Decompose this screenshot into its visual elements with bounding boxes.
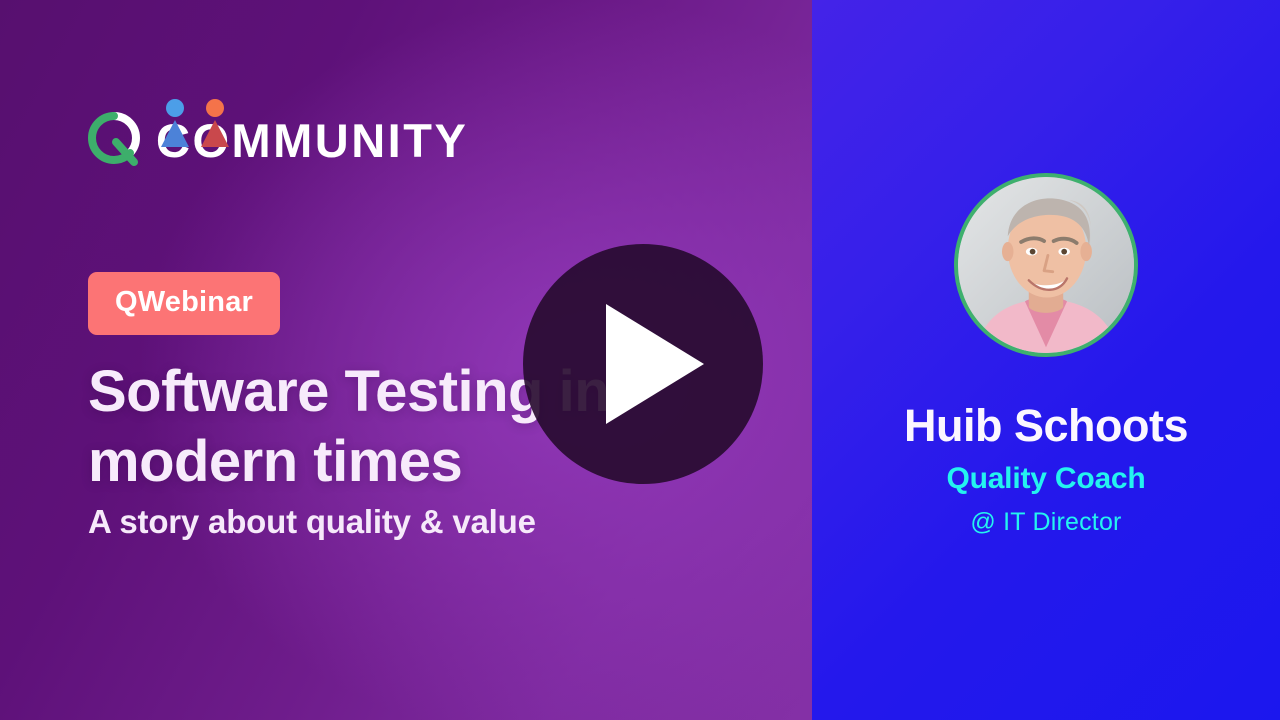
speaker-role: Quality Coach (812, 462, 1280, 496)
brand-logo[interactable]: COMMUNITY (88, 112, 468, 168)
speaker-organization: @ IT Director (812, 508, 1280, 537)
play-button[interactable] (523, 244, 763, 484)
speaker-name: Huib Schoots (812, 400, 1280, 452)
community-people-icon (159, 97, 235, 149)
speaker-portrait (958, 177, 1134, 353)
page-subtitle: A story about quality & value (88, 503, 536, 541)
avatar (954, 173, 1138, 357)
left-content-panel: COMMUNITY QWebinar Software Testing in m… (0, 0, 812, 720)
speaker-panel: Huib Schoots Quality Coach @ IT Director (812, 0, 1280, 720)
q-logo-icon (88, 112, 140, 168)
status-badge: QWebinar (88, 272, 280, 335)
play-triangle-icon (606, 304, 704, 424)
webinar-promo-card: COMMUNITY QWebinar Software Testing in m… (0, 0, 1280, 720)
